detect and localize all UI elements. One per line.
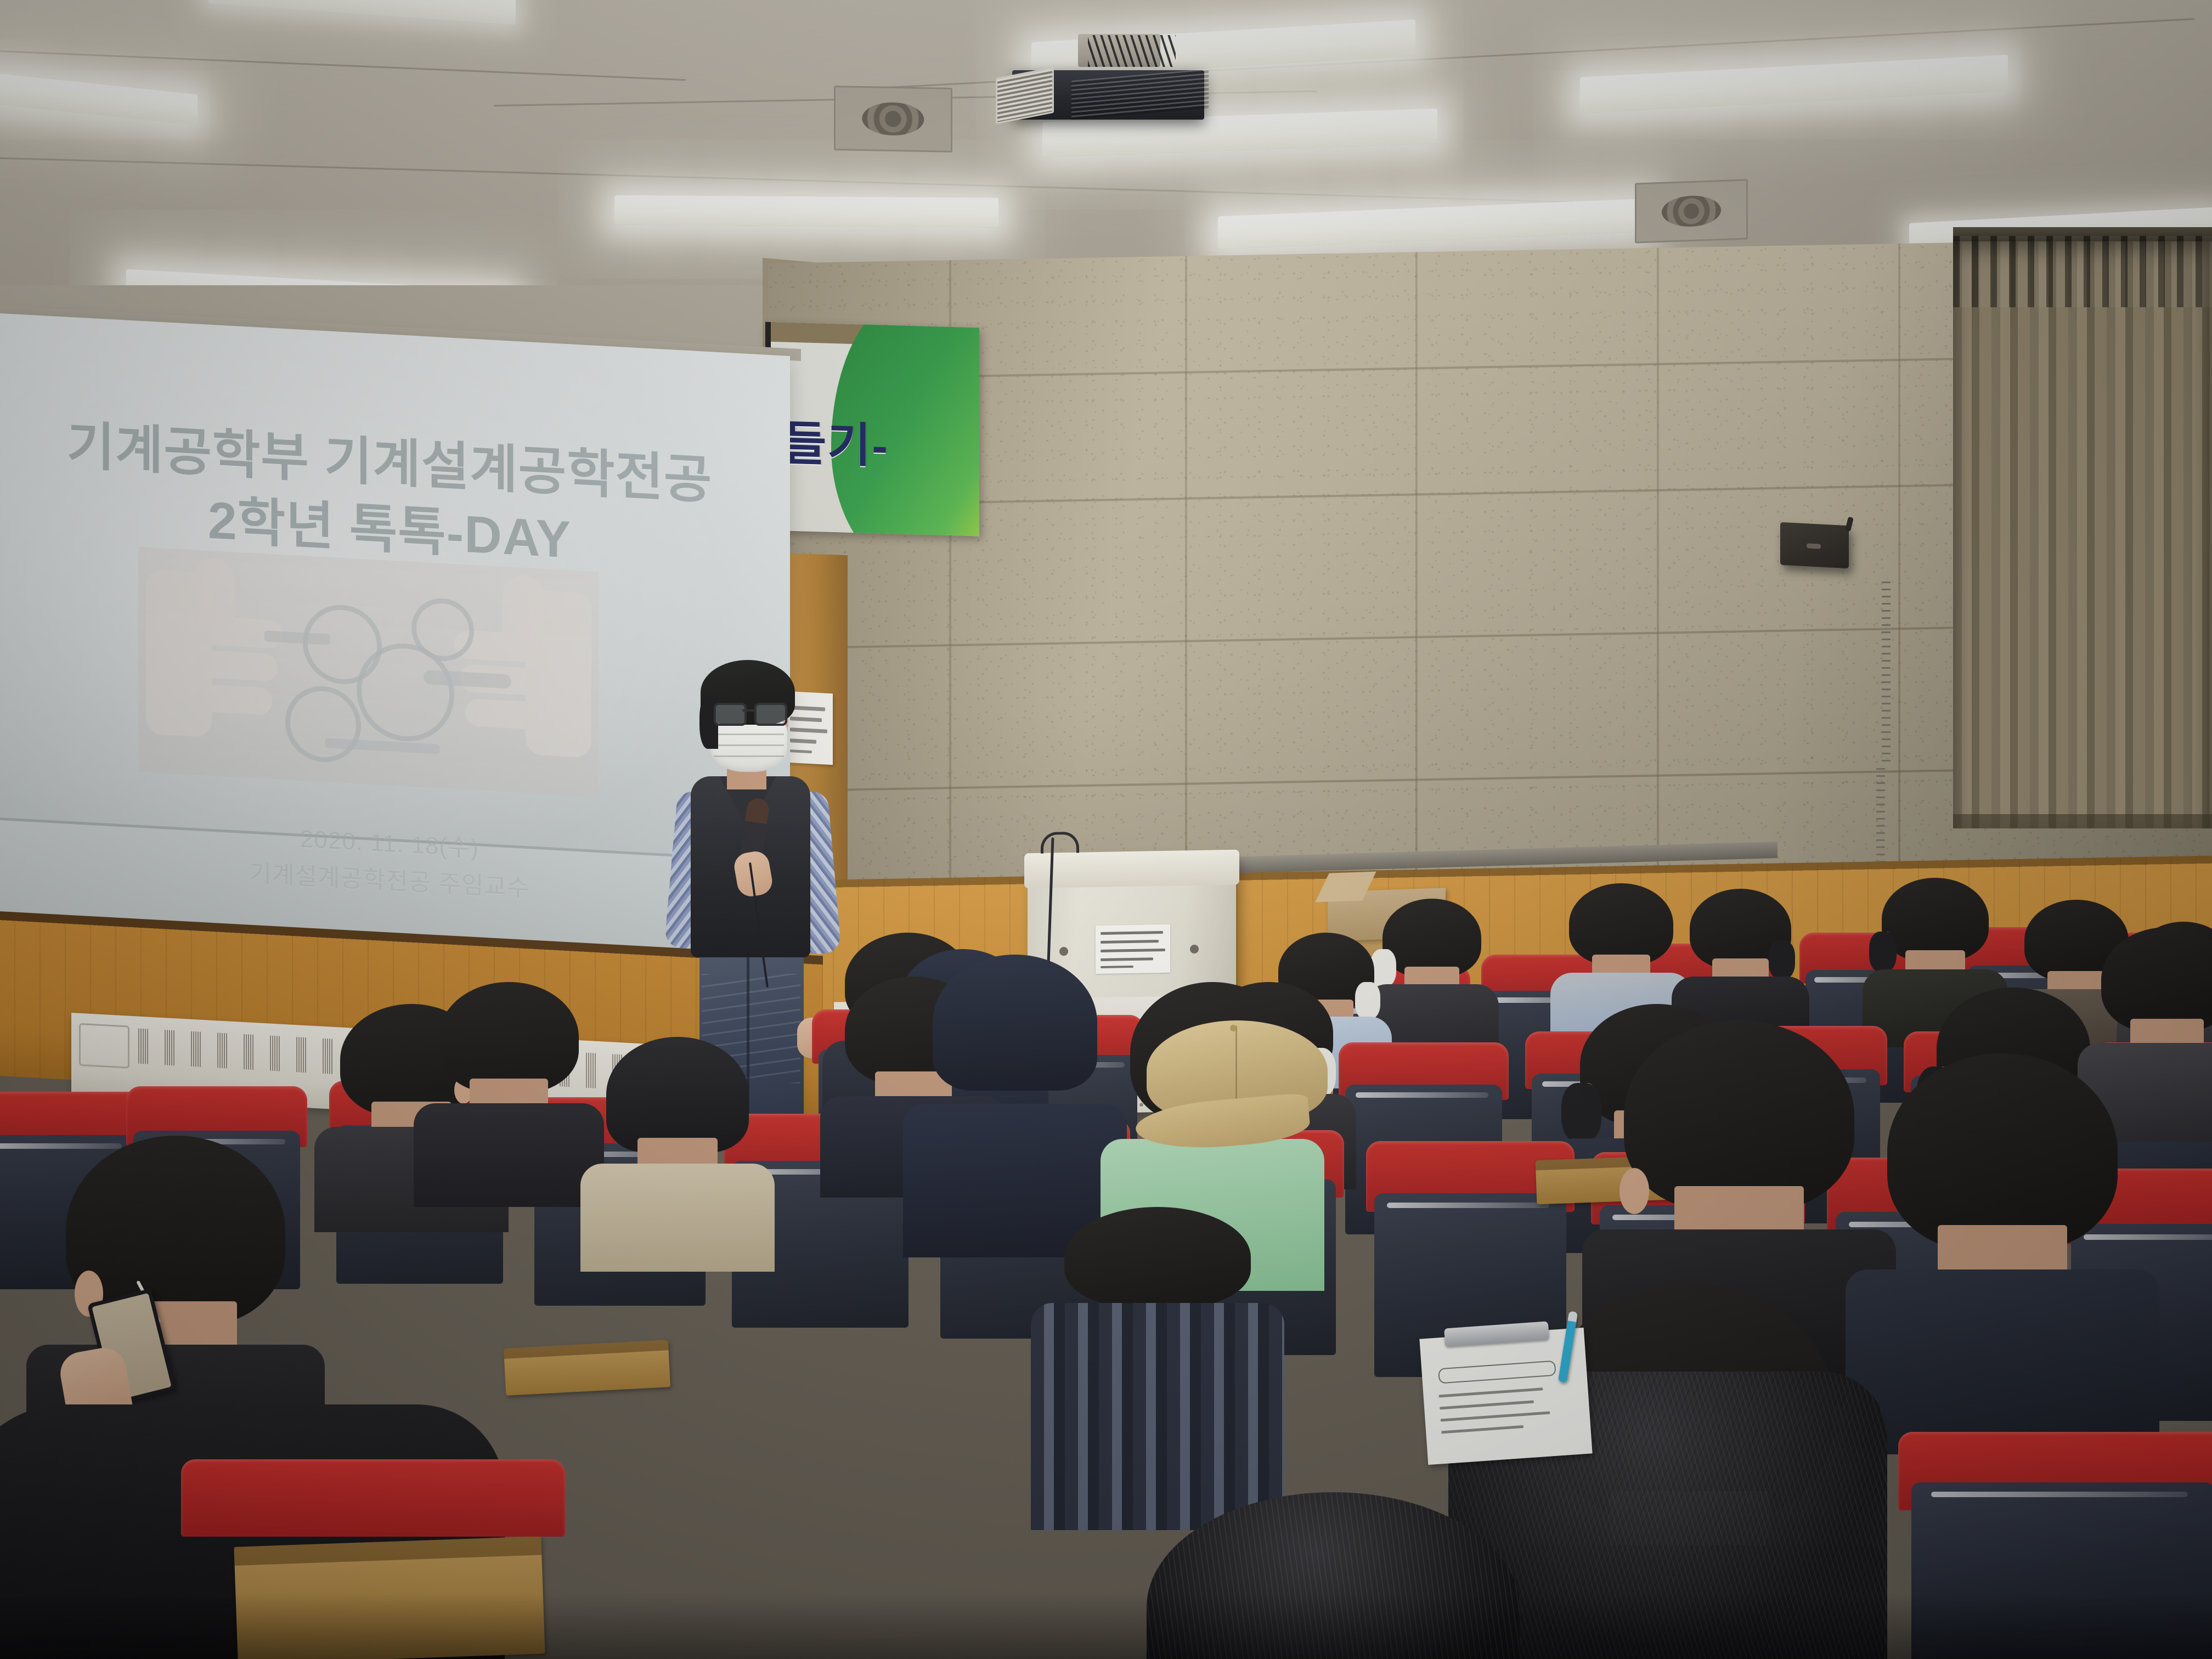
ceiling-fluorescent-light [0, 70, 198, 125]
ceiling-fluorescent-light [614, 195, 998, 228]
student-head [1624, 1020, 1854, 1328]
slide-hands-gear-graphic [138, 547, 599, 797]
lecture-hall-photo: 들기- 기계공학부 기계설계공학전공 2학년 톡톡-DAY [0, 0, 2212, 1659]
student-with-hood [933, 955, 1097, 1174]
banner-text: 들기- [783, 404, 889, 476]
ceiling-fluorescent-light [208, 0, 516, 25]
baseball-cap [1147, 1020, 1328, 1158]
window-curtain [1953, 236, 2212, 828]
student-head [439, 982, 579, 1160]
handout-title-box [1438, 1361, 1556, 1384]
student-head [2101, 927, 2212, 1097]
podium-notice-sticker [1096, 924, 1170, 974]
ceiling-projector [996, 60, 1204, 120]
student-with-beanie [606, 1037, 749, 1223]
ceiling-air-vent [1635, 179, 1748, 243]
student-head [1383, 899, 1481, 1025]
ceiling-air-vent [834, 86, 952, 153]
lower-vignette [0, 1593, 2212, 1659]
seat-tablet-arm[interactable] [504, 1340, 670, 1396]
student-head [1569, 883, 1673, 1015]
student-head [1690, 889, 1791, 1018]
projector-cables [1088, 35, 1176, 67]
ceiling-fluorescent-light [1218, 199, 1646, 250]
wall-speaker [1780, 522, 1849, 569]
wall-metal-strip [1882, 582, 1891, 763]
eyeglasses-icon [714, 703, 785, 721]
ceiling-fluorescent-light [1580, 55, 2008, 114]
student-head [1064, 1207, 1251, 1459]
face-mask-icon [710, 719, 787, 772]
student-head [1887, 1053, 2118, 1372]
projector-vent-grille [1071, 69, 1209, 120]
